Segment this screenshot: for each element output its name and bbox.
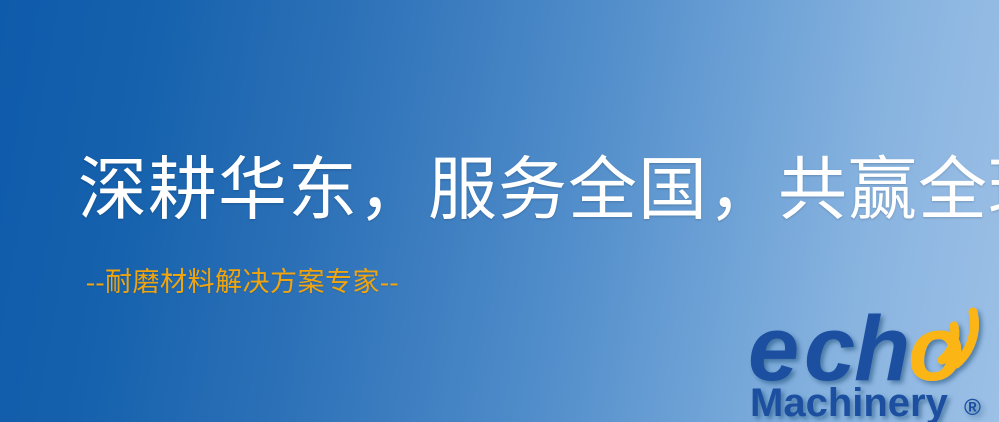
echo-machinery-logo[interactable]: e c h o Machinery ® echo Machinery ® bbox=[742, 296, 999, 422]
banner-subtitle: --耐磨材料解决方案专家-- bbox=[86, 266, 399, 298]
echo-machinery-logo-icon: e c h o Machinery ® bbox=[742, 296, 999, 422]
svg-text:®: ® bbox=[964, 394, 981, 420]
promo-banner: 深耕华东，服务全国，共赢全球 --耐磨材料解决方案专家-- e c h bbox=[0, 0, 999, 422]
banner-headline: 深耕华东，服务全国，共赢全球 bbox=[78, 151, 999, 229]
svg-text:Machinery: Machinery bbox=[750, 381, 949, 422]
